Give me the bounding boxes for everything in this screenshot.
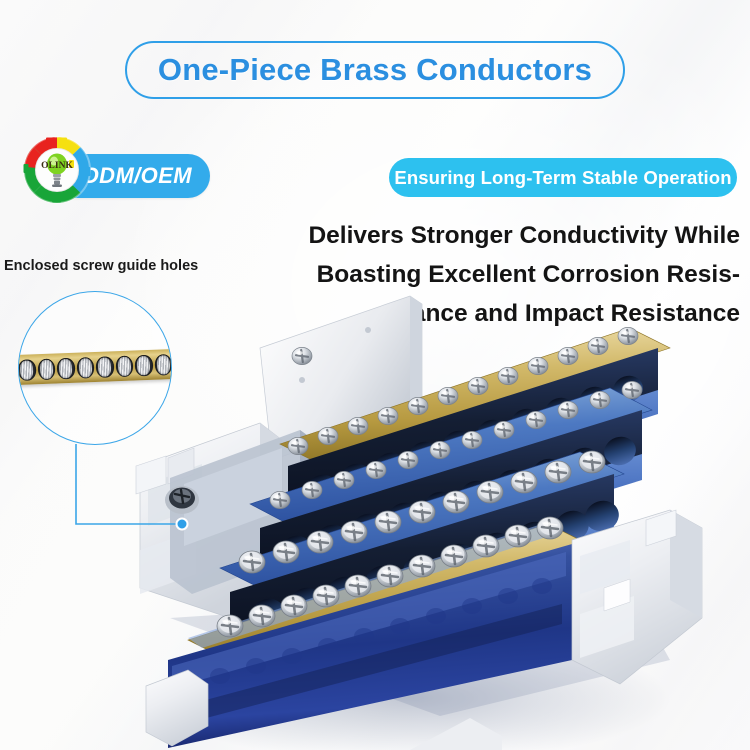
screw-guide-hole	[76, 357, 94, 379]
callout-detail-circle	[18, 291, 172, 445]
odm-oem-label: ODM/OEM	[82, 163, 192, 189]
product-image	[110, 288, 750, 750]
screw-guide-hole	[37, 359, 55, 381]
brass-bar-with-screw-holes-icon	[18, 349, 172, 385]
subtitle-label: Ensuring Long-Term Stable Operation	[394, 167, 731, 189]
callout-label: Enclosed screw guide holes	[4, 258, 198, 274]
screw-guide-hole	[154, 354, 172, 376]
olink-logo: OLINK	[22, 136, 92, 204]
olink-logo-text: OLINK	[41, 161, 73, 171]
page-title-pill: One-Piece Brass Conductors	[125, 41, 625, 99]
screw-guide-hole	[18, 359, 36, 381]
screw-guide-hole	[96, 356, 114, 378]
subtitle-pill: Ensuring Long-Term Stable Operation	[389, 158, 737, 197]
screw-guide-hole	[135, 355, 153, 377]
screw-guide-hole	[115, 356, 133, 378]
body-line-1: Delivers Stronger Conductivity While	[290, 216, 740, 255]
grounding-screw-icon	[165, 486, 199, 514]
color-ring-icon: OLINK	[22, 136, 92, 204]
screw-guide-hole	[57, 358, 75, 380]
page-title: One-Piece Brass Conductors	[158, 52, 592, 88]
